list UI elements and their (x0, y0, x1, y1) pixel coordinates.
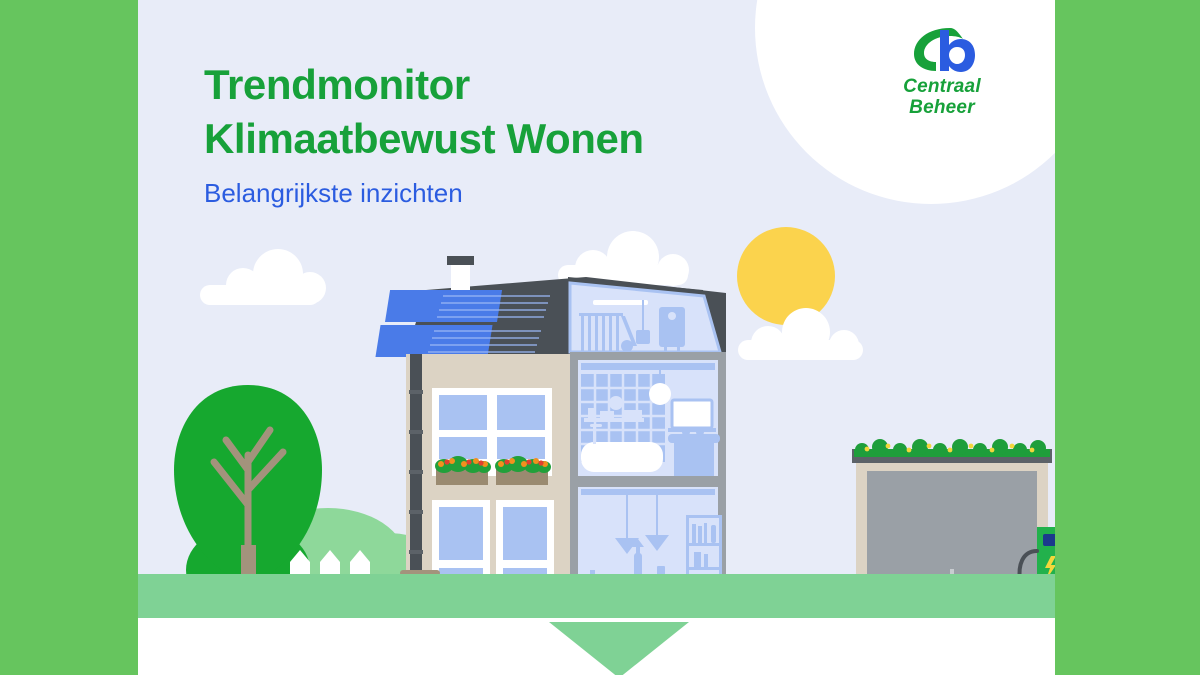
cloud-left-icon (200, 249, 326, 305)
cb-monogram-icon (906, 24, 978, 74)
page-title-line2: Klimaatbewust Wonen (204, 112, 644, 166)
brand-name-line2: Beheer (903, 97, 981, 118)
attic-ceiling-light-icon (593, 300, 648, 305)
cloud-under-sun-icon (738, 308, 863, 360)
brand-name-line1: Centraal (903, 76, 981, 97)
green-roof-icon (854, 439, 1050, 457)
slide-canvas: Centraal Beheer Trendmonitor Klimaatbewu… (138, 0, 1055, 675)
downspout-icon (409, 354, 423, 586)
page-title-line1: Trendmonitor (204, 58, 644, 112)
page-subtitle: Belangrijkste inzichten (204, 178, 644, 208)
chimney-icon (447, 256, 474, 294)
vanity-cabinet-icon (668, 428, 720, 476)
slide-frame: Centraal Beheer Trendmonitor Klimaatbewu… (0, 0, 1200, 675)
sun-icon (737, 227, 835, 325)
bathroom-mirror-icon (668, 400, 716, 432)
bathroom (578, 360, 720, 476)
title-block: Trendmonitor Klimaatbewust Wonen Belangr… (204, 58, 644, 208)
brand-logo[interactable]: Centraal Beheer (857, 24, 1027, 142)
brand-name: Centraal Beheer (903, 76, 981, 118)
footer-white-band (138, 618, 1055, 675)
scroll-chevron-icon (549, 622, 689, 675)
ground-band (138, 574, 1055, 618)
house-cutaway (375, 256, 726, 616)
